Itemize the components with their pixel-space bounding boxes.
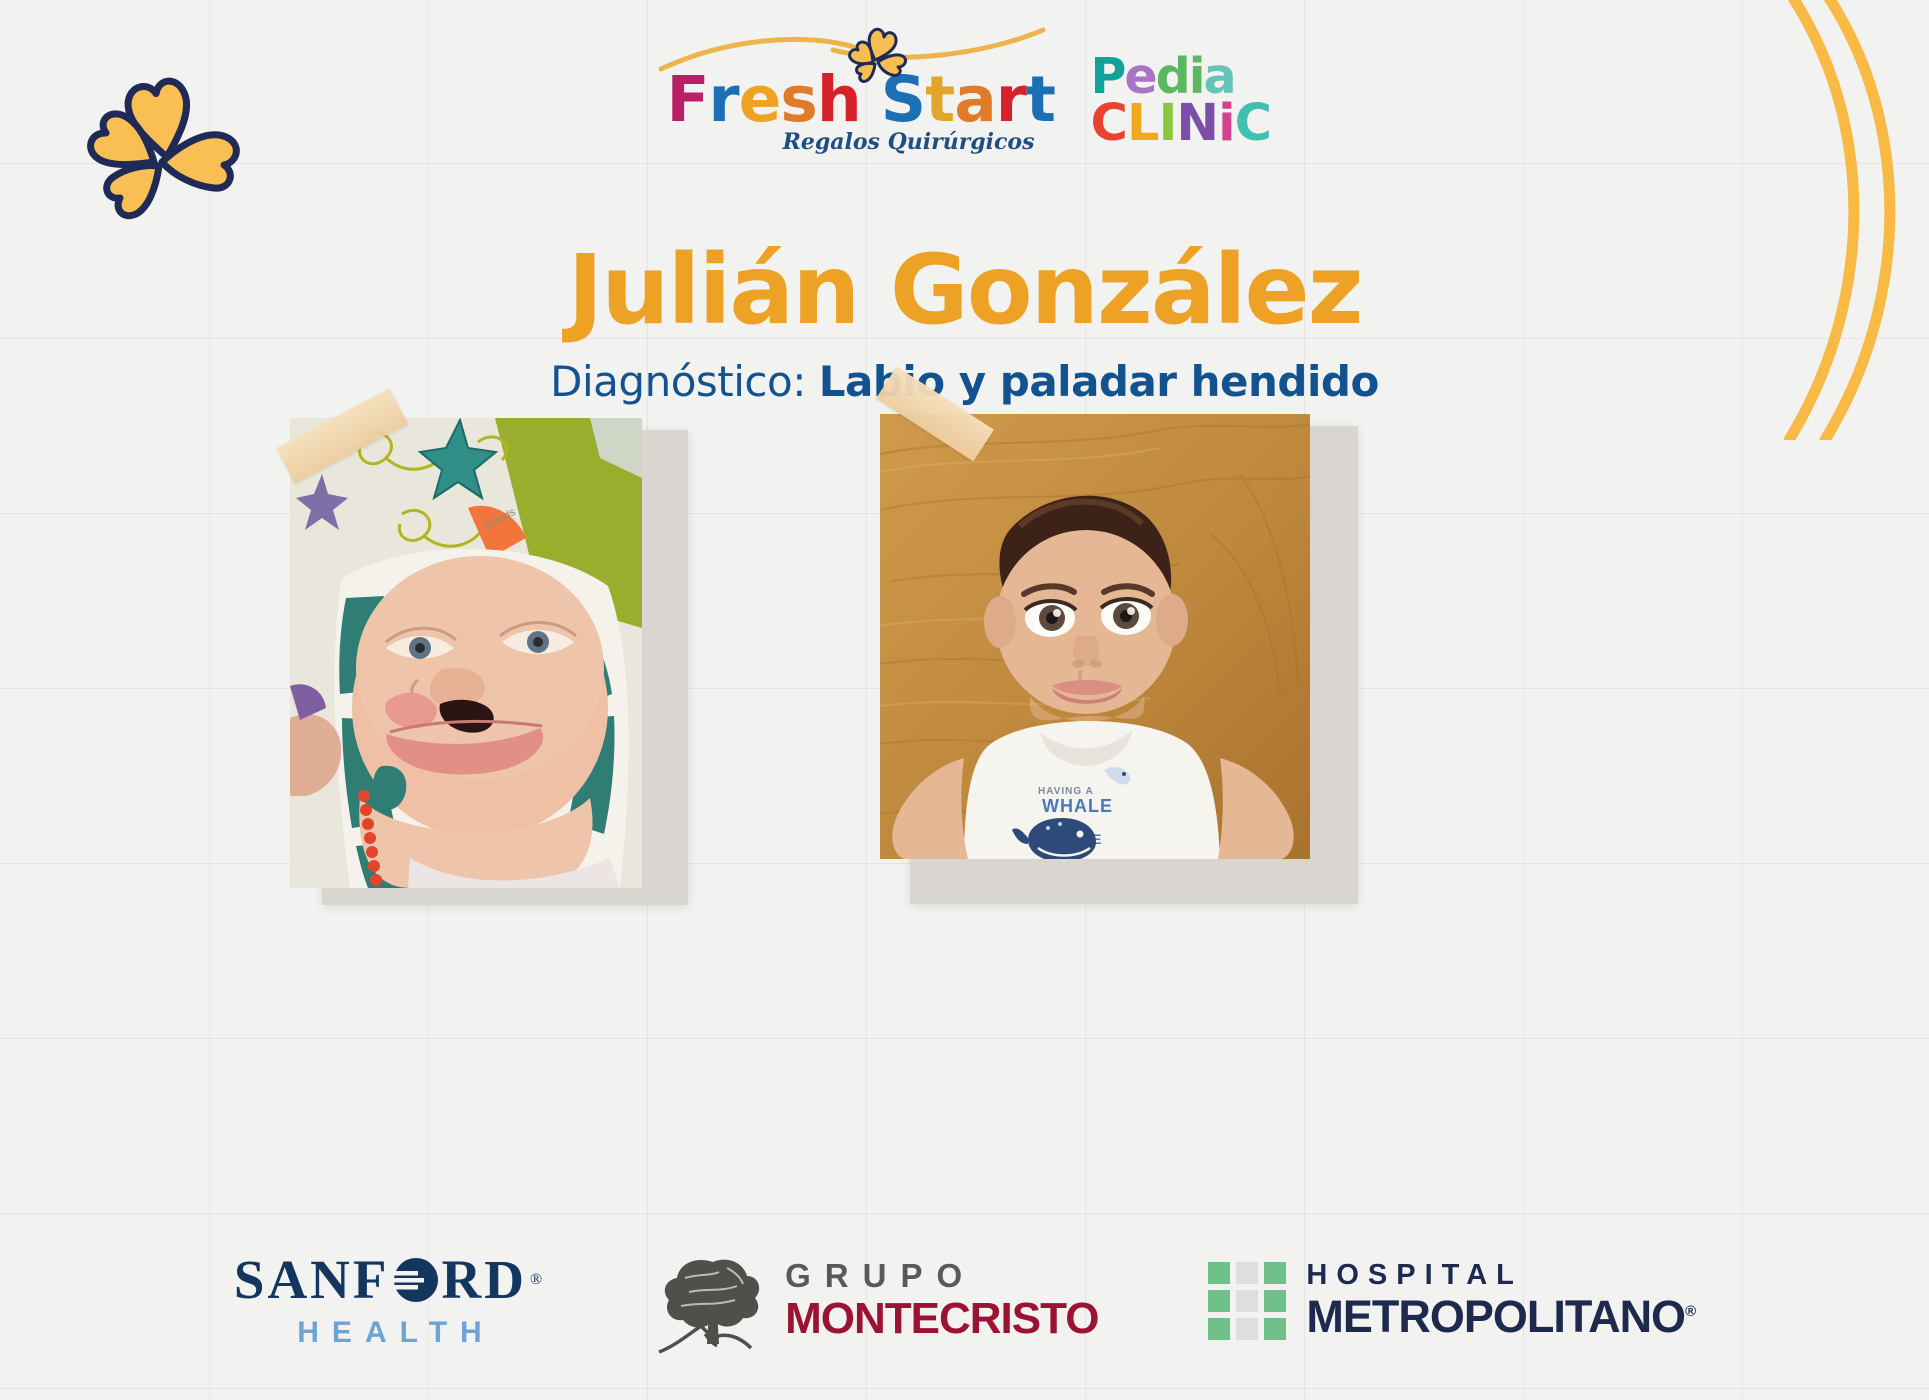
grid-cell [1236,1262,1258,1284]
sanford-wordmark: SANF RD ® [234,1252,545,1307]
sanford-registered-mark: ® [530,1272,545,1288]
grid-cell [1236,1318,1258,1340]
sponsor-logo-row: SANF RD ® HEALTH [0,1248,1929,1354]
grid-cell [1208,1318,1230,1340]
metropolitano-registered-mark: ® [1685,1303,1695,1320]
hospital-metropolitano-logo: HOSPITAL METROPOLITANO® [1208,1261,1695,1340]
header-logo-row: Fresh Start Regalos Quirúrgicos Pedia CL… [0,24,1929,155]
grupo-text: GRUPO [785,1259,1098,1292]
metropolitano-word: METROPOLITANO [1306,1291,1685,1342]
grid-cell [1236,1290,1258,1312]
sanford-text-part1: SANF [234,1252,390,1307]
fresh-start-logo: Fresh Start Regalos Quirúrgicos [667,24,1039,155]
checkerboard-grid-icon [1208,1262,1286,1340]
clinic-wordmark: CLINiC [1091,101,1263,148]
before-photo-card: brands [290,400,688,905]
pedia-clinic-logo: Pedia CLINiC [1091,24,1263,148]
metropolitano-text: METROPOLITANO® [1306,1293,1695,1340]
page-title: Julián González [0,240,1929,341]
grid-cell [1208,1290,1230,1312]
after-photo-card: HAVING A WHALE OF A TIME [880,396,1358,906]
before-photo-image: brands [290,418,642,888]
grid-cell [1264,1290,1286,1312]
tree-icon [655,1248,771,1354]
diagnosis-label: Diagnóstico: [550,357,806,406]
pedia-wordmark: Pedia [1091,54,1263,99]
sanford-health-subtext: HEALTH [284,1316,494,1350]
sanford-health-logo: SANF RD ® HEALTH [234,1252,545,1350]
after-photo-image: HAVING A WHALE OF A TIME [880,414,1310,859]
svg-text:WHALE: WHALE [1042,796,1113,816]
fresh-start-butterfly-icon [845,26,907,84]
montecristo-text: MONTECRISTO [785,1296,1098,1342]
sanford-text-part2: RD [442,1252,527,1307]
grid-cell [1208,1262,1230,1284]
hospital-text: HOSPITAL [1306,1261,1695,1290]
grupo-montecristo-logo: GRUPO MONTECRISTO [655,1248,1098,1354]
title-block: Julián González Diagnóstico: Labio y pal… [0,240,1929,406]
grid-cell [1264,1318,1286,1340]
grid-cell [1264,1262,1286,1284]
sanford-o-mark-icon [392,1256,440,1304]
